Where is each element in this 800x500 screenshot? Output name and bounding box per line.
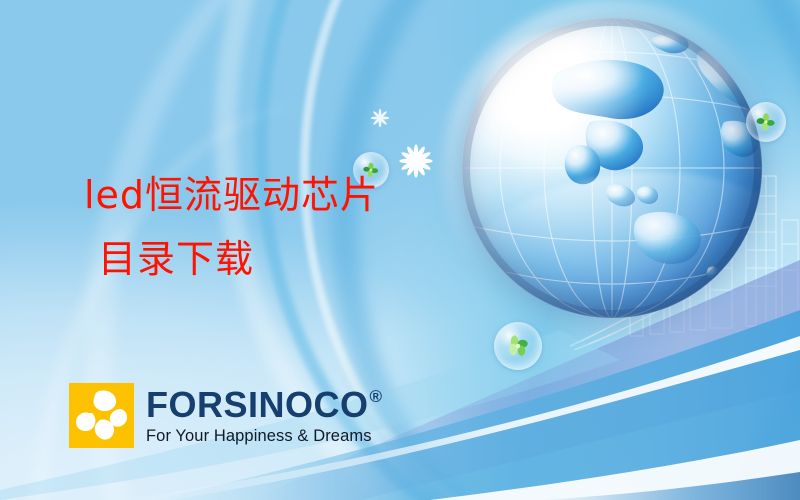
headline-line-1: led恒流驱动芯片 — [84, 163, 504, 227]
brand-name: FORSINOCO — [146, 386, 369, 424]
brand-wordmark: FORSINOCO ® — [146, 386, 383, 424]
brand-logo: FORSINOCO ® For Your Happiness & Dreams — [69, 383, 383, 448]
bubble-pinwheel-corner — [746, 102, 786, 142]
pinwheel-flower-icon — [69, 383, 134, 448]
headline: led恒流驱动芯片 目录下载 — [84, 163, 504, 291]
promo-banner: led恒流驱动芯片 目录下载 FORSINOCO ® For Your Happ… — [0, 0, 800, 500]
bubble-pinwheel-large — [494, 322, 542, 370]
headline-line-2: 目录下载 — [84, 227, 504, 291]
logo-text-block: FORSINOCO ® For Your Happiness & Dreams — [146, 386, 383, 446]
brand-tagline: For Your Happiness & Dreams — [146, 426, 383, 446]
registered-trademark-icon: ® — [370, 388, 383, 405]
starburst-small — [370, 108, 390, 128]
